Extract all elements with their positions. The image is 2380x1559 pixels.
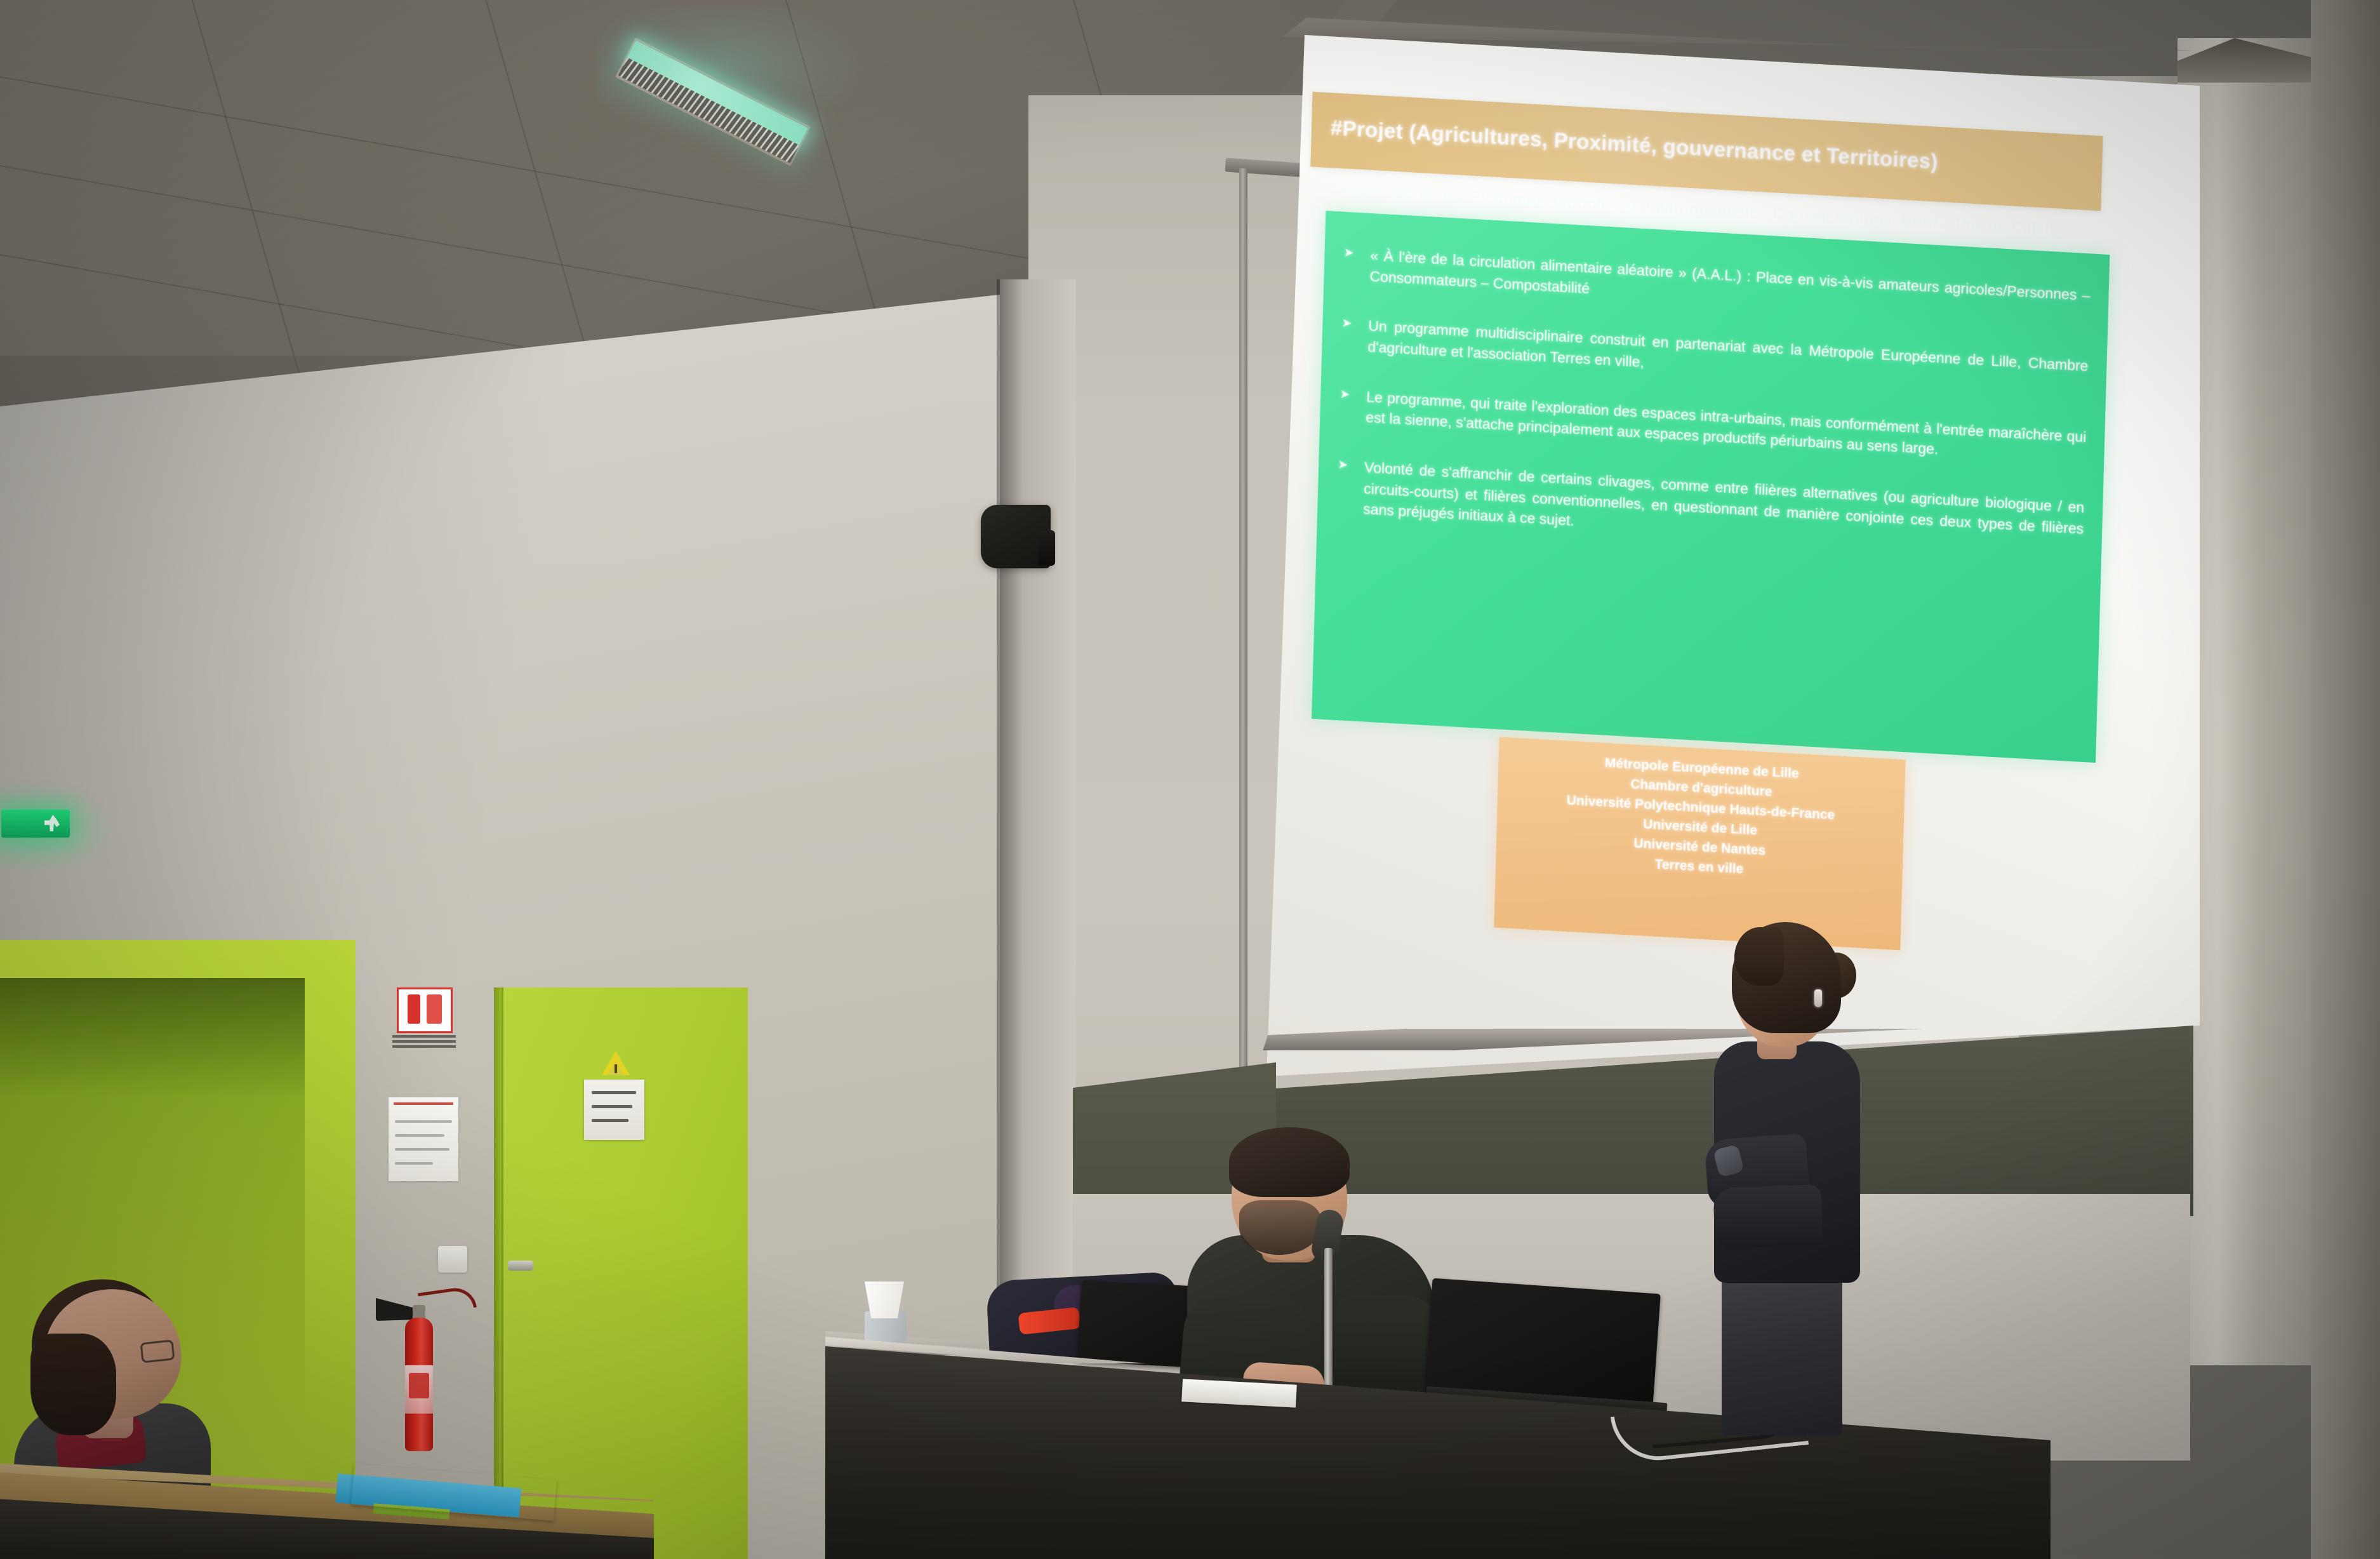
door-information-sign — [584, 1080, 644, 1140]
slide-title: #Projet (Agricultures, Proximité, gouver… — [1331, 116, 1939, 174]
slide-partners-panel: Métropole Européenne de Lille Chambre d'… — [1494, 737, 1905, 950]
fire-instruction-notice-icon — [397, 987, 453, 1033]
seated-speaker-hair — [1229, 1127, 1350, 1197]
extinguisher-label — [405, 1365, 433, 1414]
presenter-hair-front — [1734, 927, 1784, 986]
partner-list: Métropole Européenne de Lille Chambre d'… — [1508, 748, 1892, 888]
alcove-shadow — [0, 978, 305, 1099]
speaker-bracket — [1039, 530, 1055, 566]
wall-notice-paper — [389, 1097, 458, 1181]
far-right-wall — [2311, 0, 2380, 1559]
warning-exclamation — [615, 1064, 617, 1073]
slide-bullet-list: « À l'ère de la circulation alimentaire … — [1333, 243, 2091, 589]
lecture-hall-photo: #Projet (Agricultures, Proximité, gouver… — [0, 0, 2380, 1559]
presenter-forearm — [1713, 1184, 1823, 1249]
wall-socket[interactable] — [438, 1246, 467, 1273]
slide-bullet: Volonté de s'affranchir de certains cliv… — [1334, 455, 2085, 559]
wall-conduit — [1239, 168, 1247, 1140]
seated-speaker-beard — [1239, 1200, 1320, 1255]
microphone-stand — [1324, 1248, 1333, 1407]
emergency-exit-sign-icon — [1, 810, 70, 838]
presenter-earring — [1814, 989, 1822, 1007]
fire-notice-caption — [392, 1035, 456, 1049]
attendee-glasses-icon — [140, 1339, 175, 1363]
slide-bullet: Le programme, qui traite l'exploration d… — [1336, 385, 2087, 468]
presenter-legs — [1722, 1257, 1842, 1435]
attendee-hair-back — [30, 1334, 116, 1435]
door-handle[interactable] — [508, 1261, 533, 1271]
slide-bullet: Un programme multidisciplinaire construi… — [1338, 314, 2089, 398]
projected-slide: #Projet (Agricultures, Proximité, gouver… — [1285, 83, 2158, 937]
